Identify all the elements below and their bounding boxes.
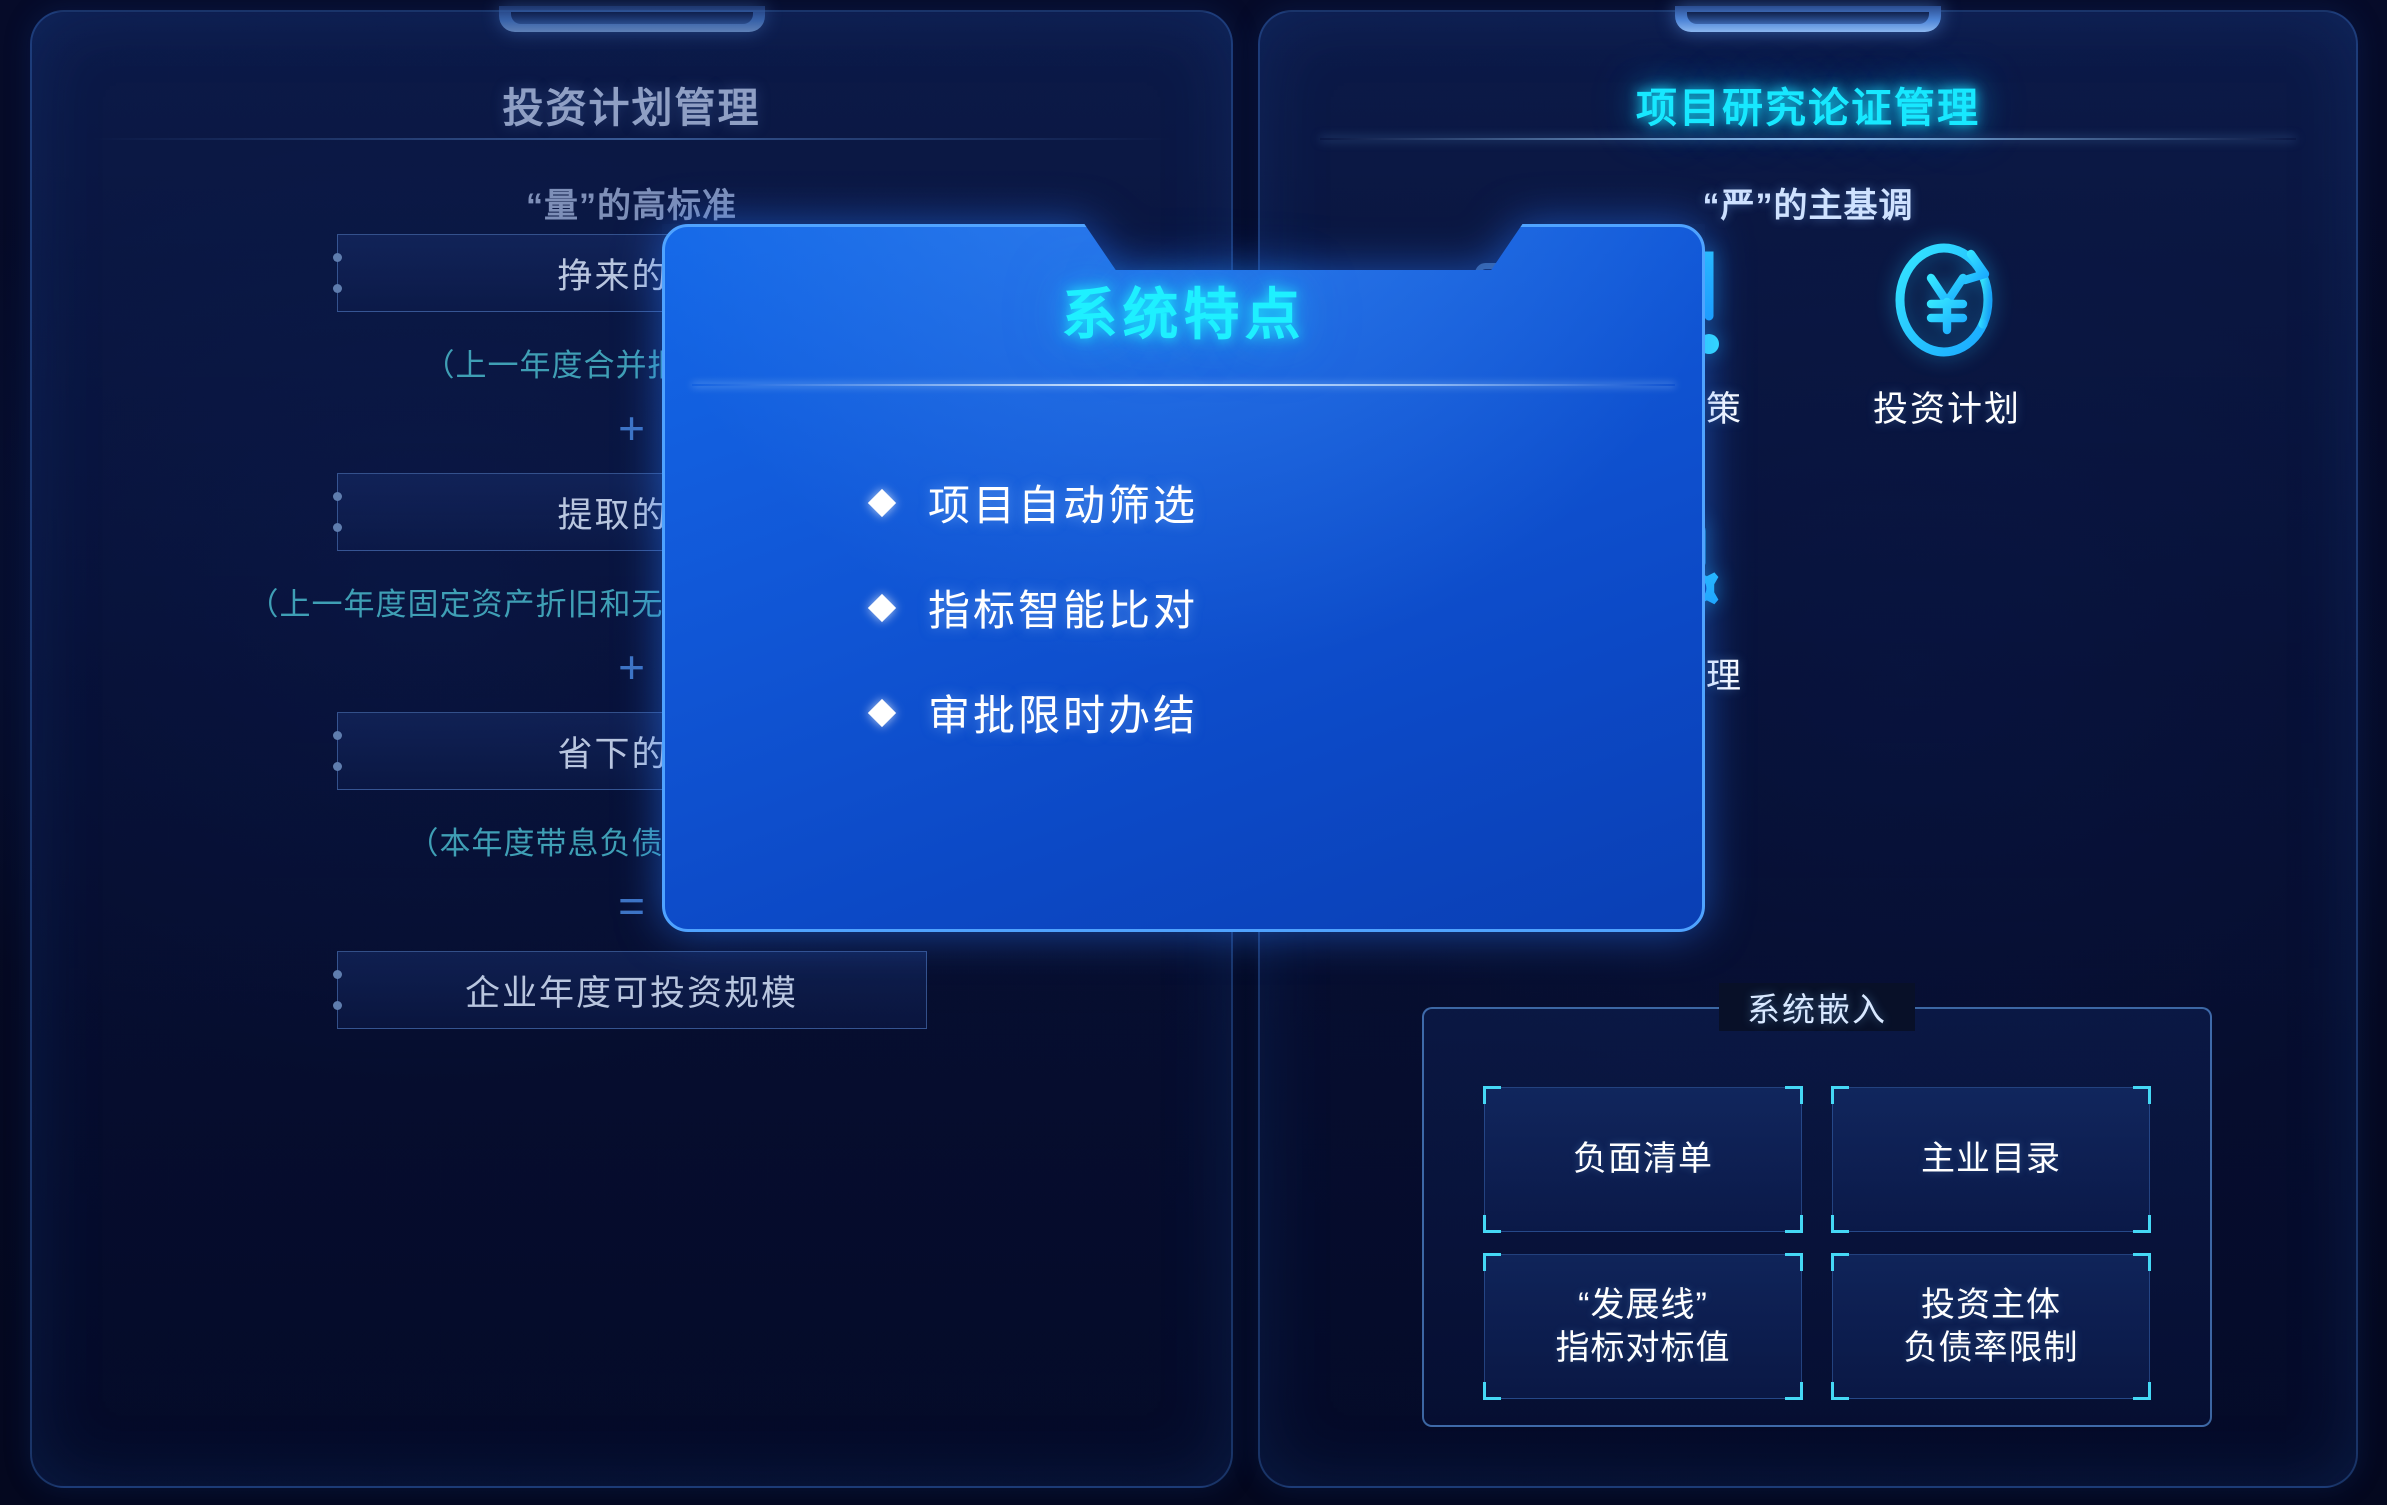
corner-bracket-tr bbox=[1785, 1253, 1803, 1271]
system-embed-grid: 负面清单主业目录“发展线”指标对标值投资主体负债率限制 bbox=[1484, 1087, 2150, 1399]
card-bullet-item: 项目自动筛选 bbox=[872, 472, 1198, 533]
panel-divider-left bbox=[92, 138, 1171, 140]
card-bullet-label: 指标智能比对 bbox=[928, 577, 1198, 638]
corner-bracket-bl bbox=[1483, 1382, 1501, 1400]
corner-bracket-bl bbox=[1831, 1382, 1849, 1400]
corner-bracket-tl bbox=[1483, 1253, 1501, 1271]
panel-subtitle-right: “严”的主基调 bbox=[1260, 178, 2356, 227]
corner-bracket-br bbox=[1785, 1215, 1803, 1233]
corner-bracket-tl bbox=[1483, 1086, 1501, 1104]
corner-bracket-br bbox=[2133, 1215, 2151, 1233]
embed-cell-label: “发展线”指标对标值 bbox=[1556, 1284, 1731, 1368]
card-bullet-label: 项目自动筛选 bbox=[928, 472, 1198, 533]
embed-cell-label: 主业目录 bbox=[1921, 1138, 2061, 1180]
corner-bracket-tl bbox=[1831, 1253, 1849, 1271]
embed-cell-label: 投资主体负债率限制 bbox=[1904, 1284, 2079, 1368]
card-bullet-list: 项目自动筛选指标智能比对审批限时办结 bbox=[872, 472, 1198, 787]
panel-divider-right bbox=[1320, 138, 2296, 140]
panel-top-notch-right bbox=[1675, 6, 1941, 32]
module-item-label: 投资计划 bbox=[1808, 381, 2086, 432]
formula-box[interactable]: 企业年度可投资规模 bbox=[337, 951, 927, 1029]
panel-title-left: 投资计划管理 bbox=[32, 74, 1231, 134]
yuan-refresh-icon bbox=[1808, 227, 2086, 373]
module-item-invest-plan[interactable]: 投资计划 bbox=[1808, 227, 2086, 432]
card-bullet-item: 指标智能比对 bbox=[872, 577, 1198, 638]
panel-title-right: 项目研究论证管理 bbox=[1260, 74, 2356, 134]
system-embed-legend: 系统嵌入 bbox=[1719, 983, 1915, 1031]
corner-bracket-tr bbox=[2133, 1086, 2151, 1104]
panel-subtitle-left: “量”的高标准 bbox=[32, 178, 1231, 227]
embed-cell[interactable]: “发展线”指标对标值 bbox=[1484, 1254, 1802, 1399]
embed-cell[interactable]: 投资主体负债率限制 bbox=[1832, 1254, 2150, 1399]
corner-bracket-br bbox=[1785, 1382, 1803, 1400]
card-bullet-item: 审批限时办结 bbox=[872, 682, 1198, 743]
card-title: 系统特点 bbox=[662, 270, 1705, 351]
embed-cell[interactable]: 主业目录 bbox=[1832, 1087, 2150, 1232]
diamond-bullet-icon bbox=[868, 593, 896, 621]
panel-top-notch-left bbox=[499, 6, 765, 32]
card-divider bbox=[692, 384, 1675, 386]
diamond-bullet-icon bbox=[868, 698, 896, 726]
corner-bracket-br bbox=[2133, 1382, 2151, 1400]
system-features-card[interactable]: 系统特点 项目自动筛选指标智能比对审批限时办结 bbox=[662, 224, 1705, 932]
corner-bracket-bl bbox=[1831, 1215, 1849, 1233]
embed-cell[interactable]: 负面清单 bbox=[1484, 1087, 1802, 1232]
corner-bracket-bl bbox=[1483, 1215, 1501, 1233]
slide-canvas: 投资计划管理 “量”的高标准 挣来的钱（上一年度合并报表净利润）+提取的钱（上一… bbox=[0, 0, 2387, 1505]
corner-bracket-tr bbox=[2133, 1253, 2151, 1271]
diamond-bullet-icon bbox=[868, 488, 896, 516]
card-bullet-label: 审批限时办结 bbox=[928, 682, 1198, 743]
corner-bracket-tl bbox=[1831, 1086, 1849, 1104]
embed-cell-label: 负面清单 bbox=[1573, 1138, 1713, 1180]
corner-bracket-tr bbox=[1785, 1086, 1803, 1104]
system-embed-group: 系统嵌入 负面清单主业目录“发展线”指标对标值投资主体负债率限制 bbox=[1422, 1007, 2212, 1427]
